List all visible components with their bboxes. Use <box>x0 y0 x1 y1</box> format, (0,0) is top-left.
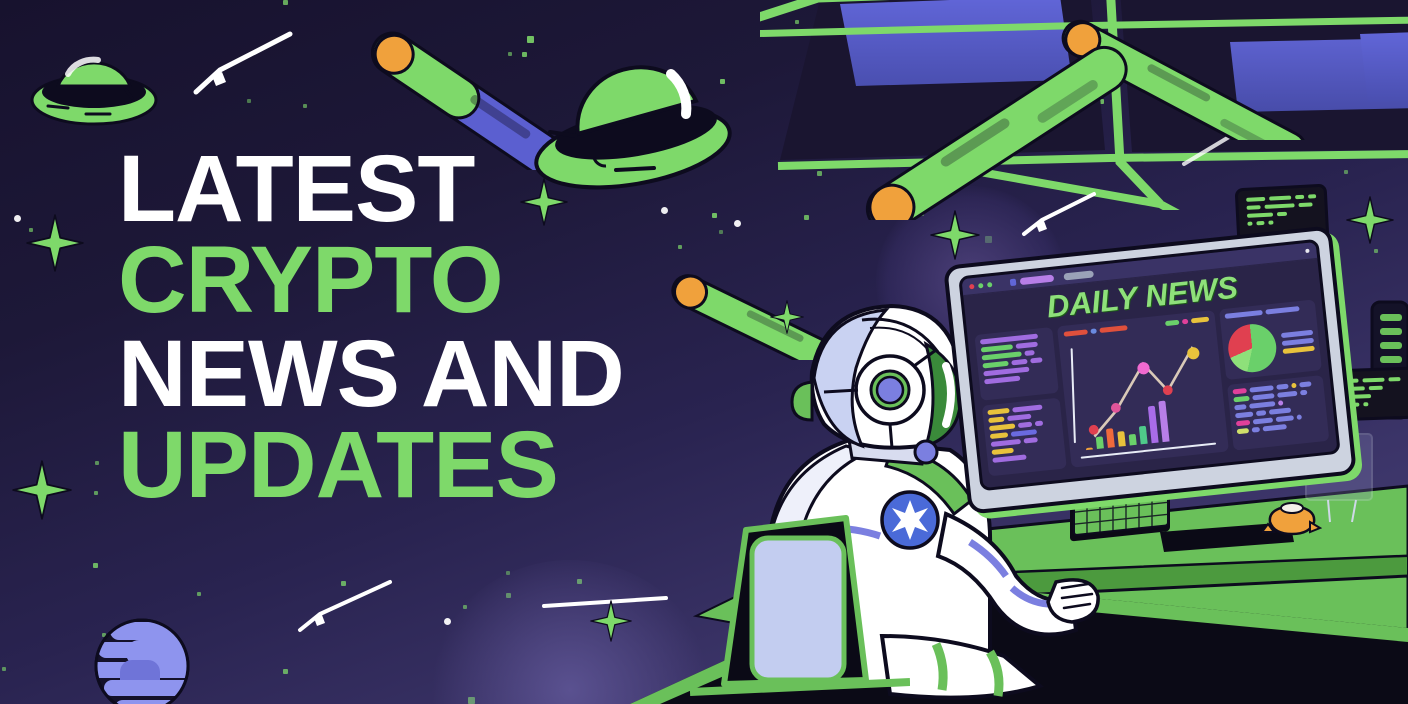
table-panel <box>1227 375 1329 451</box>
star-dot <box>95 461 99 465</box>
headline-line-1: LATEST <box>118 146 718 233</box>
traffic-dot-close[interactable] <box>969 283 974 288</box>
star-dot <box>303 104 307 108</box>
bar <box>1106 428 1115 448</box>
headlines-list <box>974 327 1058 401</box>
coffee-cup-gold-icon <box>1262 492 1322 540</box>
planet-striped-blue-icon <box>92 616 192 704</box>
star-dot <box>283 0 288 5</box>
bar <box>1158 400 1169 442</box>
star-dot <box>283 669 288 674</box>
star-dot <box>94 491 98 495</box>
star-dot <box>1374 249 1378 253</box>
menu-dot-icon[interactable] <box>1305 249 1309 253</box>
chart-card <box>1057 310 1229 468</box>
tab-active[interactable] <box>1020 274 1055 285</box>
sparkle-g-icon <box>1346 196 1394 244</box>
pilot-chair <box>690 486 910 704</box>
pie-panel <box>1219 299 1322 380</box>
chart-y-axis <box>1071 348 1076 443</box>
shooting-star-mid-icon <box>1020 190 1100 240</box>
shooting-star-top-icon <box>190 30 300 100</box>
monitor: DAILY NEWS <box>943 225 1357 514</box>
monitor-screen: DAILY NEWS <box>958 239 1341 492</box>
sparkle-b-icon <box>26 214 84 272</box>
dashboard-left-column <box>974 327 1066 476</box>
star-dot <box>2 667 6 671</box>
tab-favicon <box>1010 278 1017 286</box>
traffic-dot-max[interactable] <box>987 282 992 287</box>
traffic-dot-min[interactable] <box>978 282 983 287</box>
bar <box>1129 434 1137 446</box>
dashboard-right-column <box>1219 299 1329 450</box>
star-dot <box>14 215 21 222</box>
pie-chart <box>1226 322 1279 375</box>
headline-line-3: NEWS AND <box>118 331 718 418</box>
page-title: LATEST CRYPTO NEWS AND UPDATES <box>118 146 718 510</box>
bar <box>1139 426 1148 445</box>
shooting-star-bottom-icon <box>296 578 396 638</box>
star-dot <box>197 592 201 596</box>
tab-inactive[interactable] <box>1063 270 1094 280</box>
ticker-list <box>982 397 1067 476</box>
bar <box>1148 406 1159 443</box>
sparkle-e-icon <box>12 460 72 520</box>
headline-line-2: CRYPTO <box>118 237 718 324</box>
headline-line-4: UPDATES <box>118 422 718 509</box>
bar <box>1096 436 1104 449</box>
sparkle-c-icon <box>930 210 980 260</box>
hero-banner: LATEST CRYPTO NEWS AND UPDATES <box>0 0 1408 704</box>
bar <box>1117 431 1125 446</box>
ufo-left-icon <box>28 28 160 138</box>
star-dot <box>93 563 98 568</box>
chart-plot-area <box>1065 328 1222 454</box>
